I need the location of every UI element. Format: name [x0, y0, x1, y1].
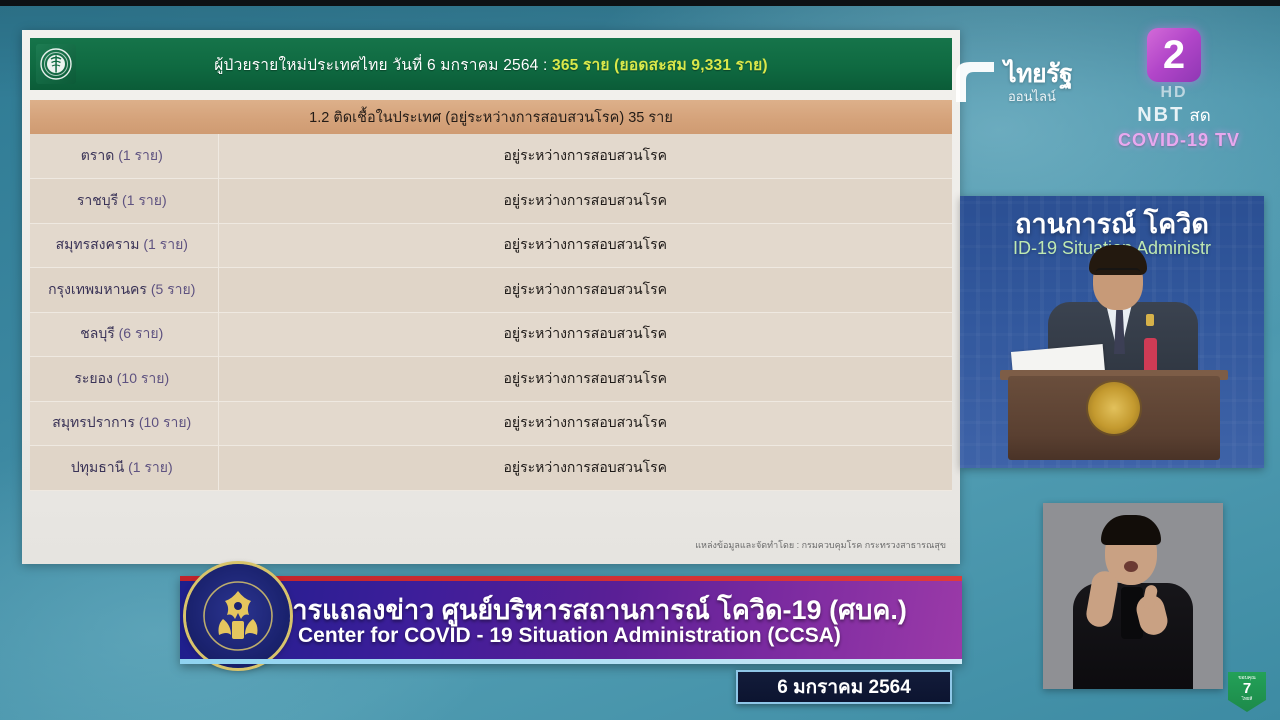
podium [1008, 376, 1220, 460]
lower-third-banner: การแถลงข่าว ศูนย์บริหารสถานการณ์ โควิด-1… [180, 576, 962, 664]
interpreter-mouth [1124, 561, 1138, 572]
live-label: สด [1189, 102, 1210, 129]
province-cell: กรุงเทพมหานคร (5 ราย) [30, 268, 218, 313]
badge-number: 7 [1228, 681, 1266, 697]
table-row: กรุงเทพมหานคร (5 ราย) อยู่ระหว่างการสอบส… [30, 268, 952, 313]
province-name: ตราด [81, 147, 115, 163]
province-count: (1 ราย) [143, 236, 188, 252]
network-row: NBT สด [1118, 102, 1230, 129]
banner-english-title: Center for COVID - 19 Situation Administ… [298, 624, 952, 648]
province-count: (1 ราย) [118, 147, 163, 163]
table-row: สมุทรสงคราม (1 ราย) อยู่ระหว่างการสอบสวน… [30, 223, 952, 268]
province-name: ราชบุรี [77, 192, 118, 208]
province-cell: ระยอง (10 ราย) [30, 357, 218, 402]
channel-number: 2 [1163, 35, 1185, 75]
presentation-slide: ผู้ป่วยรายใหม่ประเทศไทย วันที่ 6 มกราคม … [22, 30, 960, 564]
table-row: สมุทรปราการ (10 ราย) อยู่ระหว่างการสอบสว… [30, 401, 952, 446]
interpreter-hair [1101, 515, 1161, 545]
channel-number-badge: 2 [1147, 28, 1201, 82]
hd-label: HD [1118, 84, 1230, 102]
network-name: NBT [1137, 104, 1184, 127]
speaker-video-inset: ถานการณ์ โควิด ID-19 Situation Administr [960, 196, 1264, 468]
status-cell: อยู่ระหว่างการสอบสวนโรค [218, 446, 952, 491]
province-count: (10 ราย) [117, 370, 169, 386]
top-letterbox-bar [0, 0, 1280, 6]
status-cell: อยู่ระหว่างการสอบสวนโรค [218, 401, 952, 446]
sanitizer-bottle [1144, 338, 1157, 374]
table-row: ชลบุรี (6 ราย) อยู่ระหว่างการสอบสวนโรค [30, 312, 952, 357]
status-cell: อยู่ระหว่างการสอบสวนโรค [218, 357, 952, 402]
province-cell: สมุทรปราการ (10 ราย) [30, 401, 218, 446]
table-row: ราชบุรี (1 ราย) อยู่ระหว่างการสอบสวนโรค [30, 179, 952, 224]
province-count: (5 ราย) [151, 281, 196, 297]
badge-bottom-text: ไทยสี [1228, 697, 1266, 702]
province-cell: ชลบุรี (6 ราย) [30, 312, 218, 357]
province-name: สมุทรปราการ [52, 414, 135, 430]
status-cell: อยู่ระหว่างการสอบสวนโรค [218, 312, 952, 357]
header-title-main: ผู้ป่วยรายใหม่ประเทศไทย วันที่ 6 มกราคม … [214, 57, 552, 74]
province-name: สมุทรสงคราม [56, 236, 140, 252]
province-name: กรุงเทพมหานคร [48, 281, 147, 297]
thairath-mark-icon [948, 48, 1004, 113]
status-cell: อยู่ระหว่างการสอบสวนโรค [218, 268, 952, 313]
status-cell: อยู่ระหว่างการสอบสวนโรค [218, 179, 952, 224]
province-count: (6 ราย) [119, 325, 164, 341]
province-cell: ปทุมธานี (1 ราย) [30, 446, 218, 491]
province-cell: ตราด (1 ราย) [30, 134, 218, 179]
podium-emblem-icon [1088, 382, 1140, 434]
speaker-lapel-pin [1146, 314, 1154, 326]
station-corner-badge: ขอบคุณ 7 ไทยสี [1228, 672, 1266, 712]
speaker-glasses [1096, 268, 1140, 278]
status-cell: อยู่ระหว่างการสอบสวนโรค [218, 134, 952, 179]
slide-source-note: แหล่งข้อมูลและจัดทำโดย : กรมควบคุมโรค กร… [695, 538, 946, 552]
table-row: ตราด (1 ราย) อยู่ระหว่างการสอบสวนโรค [30, 134, 952, 179]
sign-language-inset [1043, 503, 1223, 689]
table-row: ระยอง (10 ราย) อยู่ระหว่างการสอบสวนโรค [30, 357, 952, 402]
cases-table: ตราด (1 ราย) อยู่ระหว่างการสอบสวนโรค ราช… [30, 134, 952, 491]
thairath-sub: ออนไลน์ [1008, 86, 1056, 107]
thairath-logo: ไทยรัฐ ออนไลน์ [948, 42, 1078, 112]
header-title-highlight: 365 ราย (ยอดสะสม 9,331 ราย) [552, 57, 768, 74]
province-name: ระยอง [74, 370, 113, 386]
province-count: (1 ราย) [122, 192, 167, 208]
slide-header-green-bar: ผู้ป่วยรายใหม่ประเทศไทย วันที่ 6 มกราคม … [30, 38, 952, 90]
table-row: ปทุมธานี (1 ราย) อยู่ระหว่างการสอบสวนโรค [30, 446, 952, 491]
province-cell: ราชบุรี (1 ราย) [30, 179, 218, 224]
slide-subtitle-band: 1.2 ติดเชื้อในประเทศ (อยู่ระหว่างการสอบส… [30, 100, 952, 134]
slide-header-title: ผู้ป่วยรายใหม่ประเทศไทย วันที่ 6 มกราคม … [76, 52, 952, 77]
province-cell: สมุทรสงคราม (1 ราย) [30, 223, 218, 268]
garuda-emblem-icon [186, 564, 290, 668]
nbt-channel-logo: 2 HD NBT สด COVID-19 TV [1118, 28, 1230, 153]
moph-caduceus-icon [36, 44, 76, 84]
province-name: ชลบุรี [80, 325, 115, 341]
covid-tv-label: COVID-19 TV [1118, 130, 1230, 151]
province-count: (10 ราย) [139, 414, 191, 430]
date-badge: 6 มกราคม 2564 [736, 670, 952, 704]
status-cell: อยู่ระหว่างการสอบสวนโรค [218, 223, 952, 268]
province-count: (1 ราย) [128, 459, 173, 475]
province-name: ปทุมธานี [71, 459, 124, 475]
